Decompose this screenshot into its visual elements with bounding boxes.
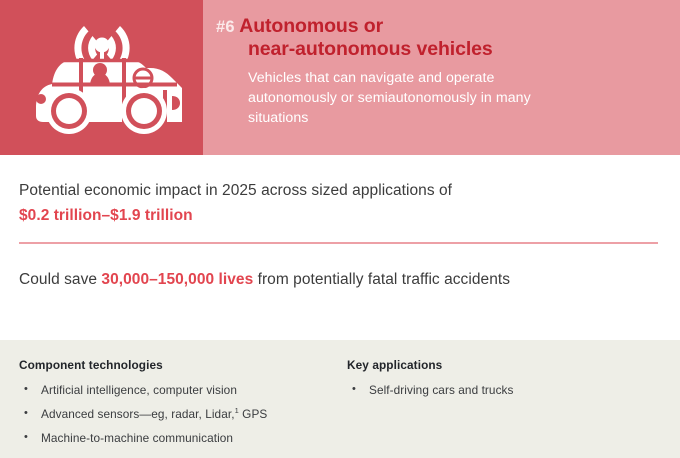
list-item-text: Artificial intelligence, computer vision <box>41 383 237 397</box>
lives-suffix: from potentially fatal traffic accidents <box>253 271 510 288</box>
impact-label: Potential economic impact in 2025 across… <box>19 180 452 202</box>
page-title-line2: near-autonomous vehicles <box>248 39 666 61</box>
component-technologies-list: Artificial intelligence, computer vision… <box>19 383 339 446</box>
list-item: Machine-to-machine communication <box>19 431 339 446</box>
header-text-block: #6 Autonomous or near-autonomous vehicle… <box>216 16 666 128</box>
lives-value: 30,000–150,000 lives <box>101 271 253 288</box>
list-item-text: Self-driving cars and trucks <box>369 383 514 397</box>
title-row: #6 Autonomous or <box>216 16 666 38</box>
impact-section: Potential economic impact in 2025 across… <box>0 155 680 340</box>
list-item-text: Machine-to-machine communication <box>41 431 233 445</box>
infographic-card: #6 Autonomous or near-autonomous vehicle… <box>0 0 680 458</box>
icon-panel <box>0 0 203 155</box>
lives-statement: Could save 30,000–150,000 lives from pot… <box>19 269 510 291</box>
key-applications-list: Self-driving cars and trucks <box>347 383 667 398</box>
list-item: Advanced sensors—eg, radar, Lidar,1 GPS <box>19 407 339 422</box>
list-item-text: Advanced sensors—eg, radar, Lidar, <box>41 407 235 421</box>
lives-prefix: Could save <box>19 271 101 288</box>
page-title-line1: Autonomous or <box>239 15 383 37</box>
key-applications-heading: Key applications <box>347 358 667 372</box>
section-divider <box>19 242 658 244</box>
component-technologies-column: Component technologies Artificial intell… <box>19 358 339 455</box>
list-item-tail: GPS <box>239 407 268 421</box>
header-band: #6 Autonomous or near-autonomous vehicle… <box>0 0 680 155</box>
component-technologies-heading: Component technologies <box>19 358 339 372</box>
rank-number: #6 <box>216 18 235 36</box>
list-item: Artificial intelligence, computer vision <box>19 383 339 398</box>
key-applications-column: Key applications Self-driving cars and t… <box>347 358 667 407</box>
list-item: Self-driving cars and trucks <box>347 383 667 398</box>
connected-autonomous-car-icon <box>22 12 182 144</box>
details-section: Component technologies Artificial intell… <box>0 340 680 458</box>
header-subtitle: Vehicles that can navigate and operate a… <box>248 68 578 128</box>
impact-value: $0.2 trillion–$1.9 trillion <box>19 205 193 227</box>
